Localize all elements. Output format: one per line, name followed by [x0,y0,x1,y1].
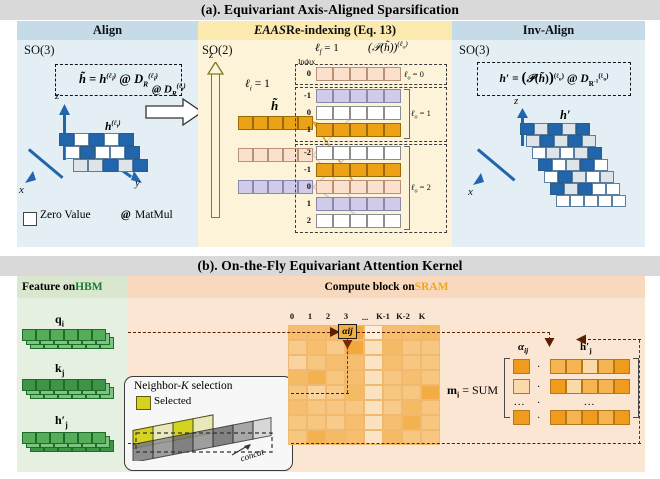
h-route-topline [583,339,641,340]
sram-header-prefix: Compute block on [325,281,415,293]
grid-cell[interactable] [402,355,421,370]
eaas-output-row-1 [316,89,401,103]
grid-cell[interactable] [326,415,345,430]
eaas-label-italic: EAAS [254,23,286,38]
eaas-z-arrowhead [207,62,224,75]
eaas-output-row-0 [316,67,401,81]
align-axis-z-arrow [58,104,71,116]
eaas-index-5: -1 [297,164,311,174]
eaas-h-tilde-label: h̃ [271,98,278,114]
dot-symbol-1: · [537,382,540,393]
align-formula: h̃ = h(ℓi) @ DR(ℓi) [79,71,158,89]
h-col-label: h′j [580,341,592,355]
grid-col-header-0: 0 [284,311,300,321]
column-header-eaas: EAAS Re-indexing (Eq. 13) [198,21,452,40]
grid-cell[interactable] [402,370,421,385]
inv-tensor-label: h′ [560,108,570,123]
hbm-header-prefix: Feature on [22,281,75,293]
grid-cell[interactable] [364,370,383,385]
h-out-ellipsis: ... [584,396,595,408]
alpha-out-cell-1 [513,379,530,394]
section-a-title: (a). Equivariant Axis-Aligned Sparsifica… [0,0,660,20]
nk-prefix: Neighbor- [134,380,181,392]
inv-so3-label: SO(3) [459,43,490,58]
column-header-inv-align: Inv-Align [452,21,645,40]
grid-cell[interactable] [307,340,326,355]
grid-cell[interactable] [364,400,383,415]
grid-cell[interactable] [421,415,440,430]
eaas-output-row-7 [316,197,401,211]
grid-col-header-ellipsis: ... [357,312,373,322]
sum-bracket-left [504,358,510,418]
grid-cell[interactable] [307,400,326,415]
alpha-out-ellipsis: ... [514,396,525,408]
q-vector-label: qi [55,312,64,328]
eaas-index-1: -1 [297,90,311,100]
h-route-stub [128,443,140,444]
grid-cell[interactable] [402,400,421,415]
grid-cell[interactable] [307,415,326,430]
eaas-index-4: -2 [297,147,311,157]
selected-label: Selected [154,395,191,407]
align-axis-y-label: y [135,177,140,189]
eaas-lo-label-2: ℓo = 2 [411,182,431,195]
panel-inv-align: SO(3) h′ = (𝒫(h̃))(ℓo) @ DR-1(ℓo) z x h′ [452,40,645,247]
grid-cell[interactable] [288,400,307,415]
grid-cell[interactable] [383,385,402,400]
grid-cell[interactable] [288,340,307,355]
align-axis-x-arrow [25,171,38,184]
grid-cell[interactable] [383,340,402,355]
grid-cell[interactable] [402,340,421,355]
hbm-header: Feature on HBM [17,276,128,298]
eaas-index-8: 2 [297,215,311,225]
panel-eaas: SO(2) z ℓi = 1 h̃ [198,40,452,247]
neighbor-k-title: Neighbor-K selection [134,380,232,392]
matmul-symbol: @ [121,209,131,221]
grid-cell[interactable] [307,370,326,385]
eaas-lo-label-1: ℓo = 1 [411,108,431,121]
grid-cell[interactable] [364,340,383,355]
eaas-label-rest: Re-indexing (Eq. 13) [286,23,396,38]
eaas-output-row-6 [316,180,401,194]
dot-symbol-0: · [537,362,540,373]
inv-axis-x-arrow [473,173,486,186]
eaas-index-3: 1 [297,124,311,134]
inv-axis-z-label: z [514,95,518,107]
grid-cell[interactable] [345,415,364,430]
align-axis-x-label: x [19,184,24,196]
eaas-axis-z-label: z [209,49,213,61]
eaas-index-2: 0 [297,107,311,117]
eaas-index-6: 0 [297,181,311,191]
zero-value-swatch [23,212,37,226]
sram-accent: SRAM [415,281,449,293]
eaas-output-row-8 [316,214,401,228]
grid-cell[interactable] [364,385,383,400]
eaas-output-row-4 [316,146,401,160]
alpha-out-cell-0 [513,359,530,374]
align-so3-label: SO(3) [24,43,55,58]
grid-cell[interactable] [288,355,307,370]
nk-k: K [181,380,189,392]
inv-axis-x-label: x [468,186,473,198]
grid-col-header-3: 3 [338,311,354,321]
eaas-output-row-2 [316,106,401,120]
grid-cell[interactable] [288,370,307,385]
alpha-ij-cell[interactable]: αij [338,324,357,339]
inv-axis-z-arrow [516,108,529,119]
q-route-line [128,332,340,333]
align-arrow-label: @ DR(ℓi) [152,82,186,98]
grid-cell[interactable] [288,415,307,430]
zero-value-label: Zero Value [40,209,91,221]
grid-cell[interactable] [326,400,345,415]
grid-cell[interactable] [326,370,345,385]
grid-col-header-k: K [414,311,430,321]
align-tensor-label: h(ℓi) [105,119,121,133]
grid-cell[interactable] [364,355,383,370]
matmul-label: MatMul [135,209,173,221]
eaas-so2-label: SO(2) [202,43,233,58]
h-route-line [291,443,641,444]
align-axis-z-label: z [55,90,59,102]
grid-cell[interactable] [402,415,421,430]
neighbor-k-box: Neighbor-K selection Selected co [124,376,293,471]
grid-cell[interactable] [383,370,402,385]
grid-cell[interactable] [421,370,440,385]
grid-cell[interactable] [383,355,402,370]
alpha-out-line [352,332,550,333]
grid-cell[interactable] [421,355,440,370]
sum-bracket-right [633,358,639,418]
sum-label: mi = SUM [447,383,498,399]
grid-col-header-k1: K-1 [373,311,393,321]
eaas-z-shaft [211,72,220,218]
grid-cell[interactable] [421,385,440,400]
eaas-output-row-5 [316,163,401,177]
grid-cell[interactable] [421,400,440,415]
eaas-lo-label-0: ℓo = 0 [404,69,424,82]
alpha-ij-label: αij [342,327,353,337]
concat-arrow [231,443,253,457]
selected-swatch [136,396,151,410]
sram-header: Compute block on SRAM [128,276,645,298]
grid-cell[interactable] [402,385,421,400]
column-header-align: Align [17,21,198,40]
alpha-col-label: αij [518,341,528,355]
inv-formula-box: h′ = (𝒫(h̃))(ℓo) @ DR-1(ℓo) [477,62,631,96]
panel-b-headers: Feature on HBM Compute block on SRAM [17,276,645,298]
section-b-title: (b). On-the-Fly Equivariant Attention Ke… [0,256,660,276]
nk-suffix: selection [189,380,233,392]
k-route-line [291,393,349,394]
eaas-index-7: 1 [297,198,311,208]
grid-cell[interactable] [383,400,402,415]
grid-cell[interactable] [345,400,364,415]
eaas-index-0: 0 [297,68,311,78]
grid-cell[interactable] [364,415,383,430]
h-route-vline [639,340,640,444]
h-vector-label: h′j [55,413,68,429]
eaas-li-label: ℓi = 1 [245,78,270,92]
k-vector-label: kj [55,361,64,377]
grid-col-header-1: 1 [302,311,318,321]
align-to-eaas-arrow [145,98,203,131]
alpha-down-arrow [342,339,353,350]
alpha-out-cell-2 [513,410,530,425]
grid-col-header-k2: K-2 [393,311,413,321]
grid-cell[interactable] [307,355,326,370]
eaas-lo1-bracket [404,89,410,139]
eaas-output-row-3 [316,123,401,137]
grid-col-header-2: 2 [320,311,336,321]
eaas-projection-label: (𝒫(h̃))(ℓo) [368,40,408,55]
inv-formula: h′ = (𝒫(h̃))(ℓo) @ DR-1(ℓo) [500,70,609,87]
dot-symbol-2: · [537,398,540,409]
eaas-lo2-bracket [404,146,410,230]
grid-cell[interactable] [421,340,440,355]
grid-cell[interactable] [383,415,402,430]
panel-align: SO(3) h̃ = h(ℓi) @ DR(ℓi) z x y h(ℓi) [17,40,198,247]
dot-symbol-3: · [537,413,540,424]
alpha-out-arrow [544,337,555,348]
eaas-lf-label: ℓf = 1 [315,42,339,56]
hbm-accent: HBM [75,281,102,293]
grid-cell[interactable] [326,355,345,370]
